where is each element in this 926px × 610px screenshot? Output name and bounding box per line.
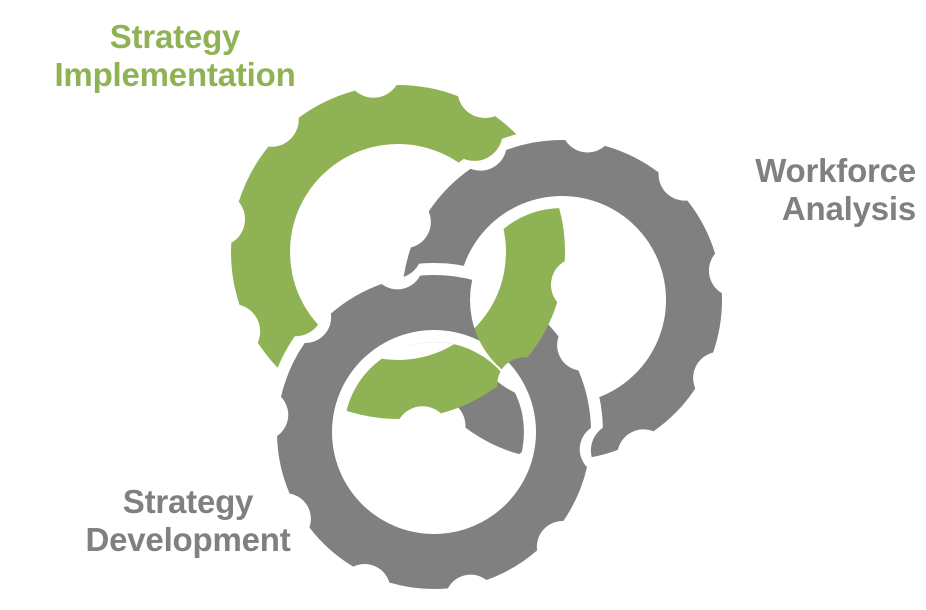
label-strategy-development: Strategy Development [40,483,336,560]
diagram-canvas: Strategy Implementation Workforce Analys… [0,0,926,610]
label-strategy-implementation: Strategy Implementation [10,18,340,95]
label-workforce-analysis: Workforce Analysis [690,152,916,229]
